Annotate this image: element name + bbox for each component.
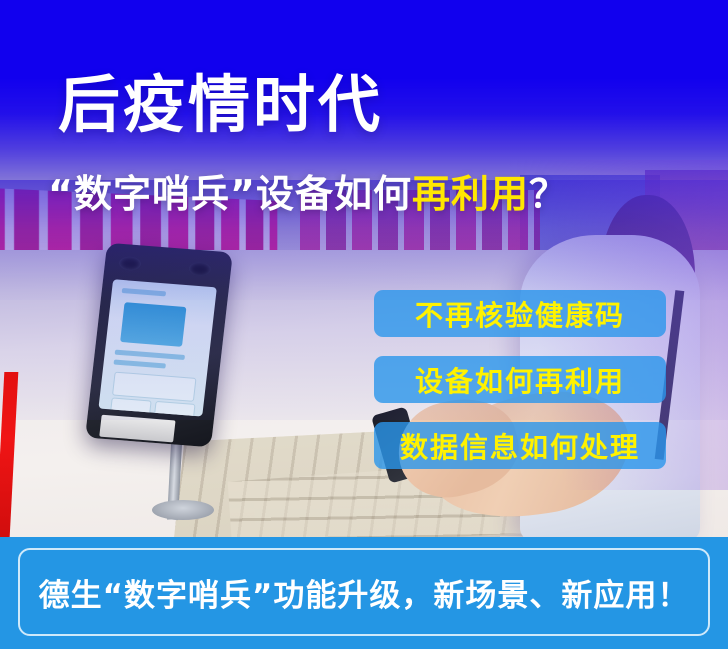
feature-list: 不再核验健康码 设备如何再利用 数据信息如何处理 — [374, 290, 666, 488]
page-subtitle-prefix: “数字哨兵”设备如何 — [48, 172, 412, 216]
feature-pill-1-label: 不再核验健康码 — [415, 294, 625, 334]
kiosk-pole-base — [152, 500, 214, 520]
page-title: 后疫情时代 — [58, 74, 383, 136]
page-subtitle-suffix: ？ — [529, 172, 568, 216]
promo-poster: 后疫情时代 “数字哨兵”设备如何再利用？ 不再核验健康码 设备如何再利用 数据信… — [0, 0, 728, 649]
feature-pill-1[interactable]: 不再核验健康码 — [374, 290, 666, 337]
bottom-banner-frame: 德生“数字哨兵”功能升级，新场景、新应用！ — [18, 548, 710, 636]
feature-pill-3-label: 数据信息如何处理 — [400, 426, 640, 466]
feature-pill-3[interactable]: 数据信息如何处理 — [374, 422, 666, 469]
feature-pill-2[interactable]: 设备如何再利用 — [374, 356, 666, 403]
page-subtitle: “数字哨兵”设备如何再利用？ — [48, 175, 568, 213]
page-subtitle-highlight: 再利用 — [412, 172, 529, 216]
bottom-banner-label: 德生“数字哨兵”功能升级，新场景、新应用！ — [39, 570, 690, 615]
feature-pill-2-label: 设备如何再利用 — [415, 360, 625, 400]
bottom-banner: 德生“数字哨兵”功能升级，新场景、新应用！ — [0, 537, 728, 649]
